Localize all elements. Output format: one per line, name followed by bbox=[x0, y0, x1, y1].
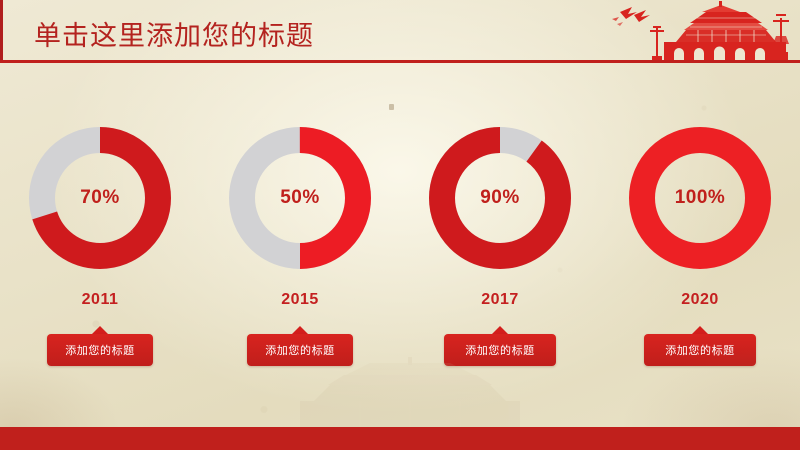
callout-2011[interactable]: 添加您的标题 bbox=[20, 326, 180, 366]
donut-ring-90: 90% bbox=[426, 124, 574, 272]
callout-text-2015[interactable]: 添加您的标题 bbox=[247, 334, 353, 366]
donut-ring-70: 70% bbox=[26, 124, 174, 272]
callout-text-2020[interactable]: 添加您的标题 bbox=[644, 334, 756, 366]
year-label-2017: 2017 bbox=[420, 291, 580, 309]
donut-value-label: 50% bbox=[226, 124, 374, 272]
donut-chart-2020: 100% bbox=[620, 118, 780, 278]
donut-ring-50: 50% bbox=[226, 124, 374, 272]
year-label-2020: 2020 bbox=[620, 291, 780, 309]
donut-value-label: 70% bbox=[26, 124, 174, 272]
callout-2017[interactable]: 添加您的标题 bbox=[420, 326, 580, 366]
donut-ring-100: 100% bbox=[626, 124, 774, 272]
header-left-accent-bar bbox=[0, 0, 3, 62]
donut-chart-2017: 90% bbox=[420, 118, 580, 278]
page-title[interactable]: 单击这里添加您的标题 bbox=[34, 14, 314, 53]
paper-speck bbox=[389, 104, 394, 110]
donut-value-label: 100% bbox=[626, 124, 774, 272]
header-divider-rule bbox=[0, 60, 800, 63]
footer-accent-bar bbox=[0, 427, 800, 450]
year-label-2015: 2015 bbox=[220, 291, 380, 309]
callout-2015[interactable]: 添加您的标题 bbox=[220, 326, 380, 366]
tiananmen-gate-illustration bbox=[590, 0, 800, 62]
donut-chart-2011: 70% bbox=[20, 118, 180, 278]
slide-header: 单击这里添加您的标题 bbox=[0, 0, 800, 63]
donut-chart-2015: 50% bbox=[220, 118, 380, 278]
year-label-row: 2011 2015 2017 2020 bbox=[0, 288, 800, 312]
flying-doves-icon bbox=[612, 7, 650, 26]
callout-text-2011[interactable]: 添加您的标题 bbox=[47, 334, 153, 366]
slide-canvas: 单击这里添加您的标题 bbox=[0, 0, 800, 450]
gate-structure bbox=[664, 1, 786, 62]
callout-text-2017[interactable]: 添加您的标题 bbox=[444, 334, 556, 366]
year-label-2011: 2011 bbox=[20, 291, 180, 309]
callout-row: 添加您的标题 添加您的标题 添加您的标题 添加您的标题 bbox=[0, 326, 800, 376]
callout-2020[interactable]: 添加您的标题 bbox=[620, 326, 780, 366]
donut-value-label: 90% bbox=[426, 124, 574, 272]
donut-chart-row: 70% 50% 90% bbox=[0, 118, 800, 288]
